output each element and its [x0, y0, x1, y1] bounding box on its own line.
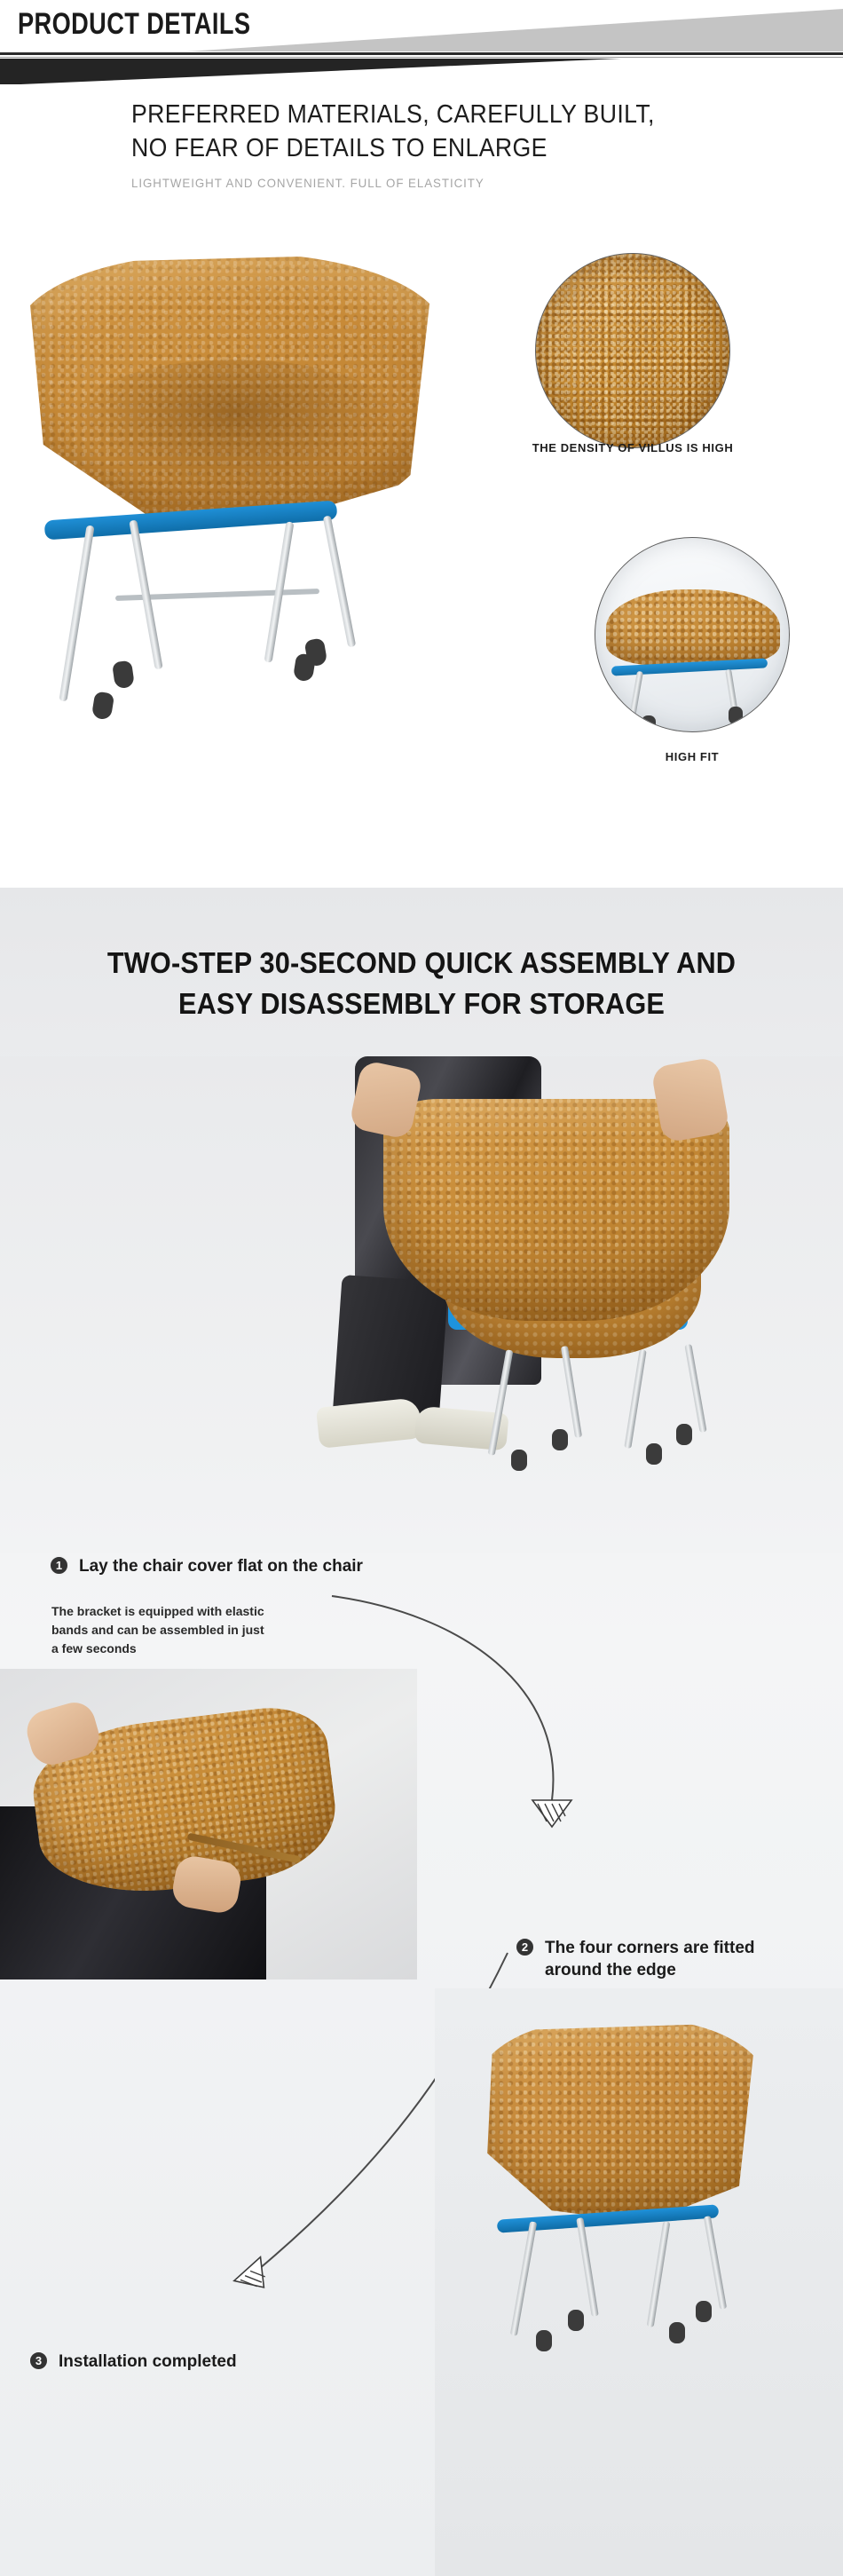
step-3-caption: 3 Installation completed	[28, 2351, 237, 2373]
product-details-section: PRODUCT DETAILS PREFERRED MATERIALS, CAR…	[0, 0, 843, 888]
chair-foot-cap	[536, 2330, 552, 2351]
assembly-photo-step-3	[435, 1988, 843, 2576]
chair-foot-cap	[646, 1443, 662, 1465]
callout-label-high-fit: HIGH FIT	[603, 750, 781, 763]
callout-circle-high-fit	[595, 537, 790, 732]
headline-line-2: NO FEAR OF DETAILS TO ENLARGE	[131, 131, 786, 165]
step-3-number-badge: 3	[28, 2351, 49, 2371]
callout-chair-leg	[628, 671, 643, 723]
chair-foot-cap	[112, 660, 135, 690]
step-2-caption: 2 The four corners are fitted around the…	[515, 1937, 808, 1981]
callout-foot-cap	[729, 707, 743, 724]
chair-foot-cap	[669, 2322, 685, 2343]
banner-title: PRODUCT DETAILS	[18, 7, 250, 42]
chair-foot-cap	[676, 1424, 692, 1445]
step-1-caption: 1 Lay the chair cover flat on the chair	[49, 1555, 363, 1577]
step-2-text: The four corners are fitted around the e…	[545, 1937, 808, 1981]
assembly-heading: TWO-STEP 30-SECOND QUICK ASSEMBLY AND EA…	[0, 943, 843, 1024]
chair-leg	[323, 516, 356, 648]
banner-dark-wedge	[0, 59, 621, 84]
seat-shadow	[67, 360, 404, 493]
chair-foot-cap	[552, 1429, 568, 1450]
headline-line-1: PREFERRED MATERIALS, CAREFULLY BUILT,	[131, 98, 786, 131]
chair-foot-cap	[511, 1450, 527, 1471]
headline-block: PREFERRED MATERIALS, CAREFULLY BUILT, NO…	[0, 98, 843, 190]
step-2-number-badge: 2	[515, 1937, 535, 1957]
step-3-text: Installation completed	[59, 2351, 237, 2373]
banner-grey-wedge	[186, 9, 843, 51]
assembly-note: The bracket is equipped with elastic ban…	[51, 1602, 371, 1658]
assembly-note-line-2: bands and can be assembled in just	[51, 1621, 371, 1640]
assembly-heading-line-1: TWO-STEP 30-SECOND QUICK ASSEMBLY AND	[29, 943, 814, 984]
assembly-photo-step-2	[0, 1669, 417, 1979]
chair-foot-cap	[696, 2301, 712, 2322]
callout-circle-villus-density	[535, 253, 730, 448]
step-1-number-badge: 1	[49, 1555, 69, 1576]
assembly-note-line-3: a few seconds	[51, 1640, 371, 1658]
chair-foot-cap	[568, 2310, 584, 2331]
callout-label-villus-density: THE DENSITY OF VILLUS IS HIGH	[497, 441, 768, 454]
assembly-heading-line-2: EASY DISASSEMBLY FOR STORAGE	[29, 984, 814, 1024]
product-details-banner: PRODUCT DETAILS	[0, 0, 843, 84]
fleece-cover-illustration	[18, 253, 444, 519]
person-hand-right	[650, 1056, 730, 1143]
assembly-note-line-1: The bracket is equipped with elastic	[51, 1602, 371, 1621]
banner-divider-thick	[0, 52, 843, 55]
callout-fleece-corner	[606, 589, 780, 666]
callout-foot-cap	[642, 715, 656, 732]
step-1-text: Lay the chair cover flat on the chair	[79, 1555, 363, 1577]
subheadline: LIGHTWEIGHT AND CONVENIENT. FULL OF ELAS…	[131, 176, 808, 190]
product-photo-chair-front	[9, 244, 470, 839]
chair-leg	[59, 525, 94, 702]
banner-divider-thin	[0, 57, 843, 58]
assembly-photo-step-1	[0, 1056, 843, 1553]
assembly-section: TWO-STEP 30-SECOND QUICK ASSEMBLY AND EA…	[0, 888, 843, 2576]
chair-foot-cap	[91, 691, 114, 720]
